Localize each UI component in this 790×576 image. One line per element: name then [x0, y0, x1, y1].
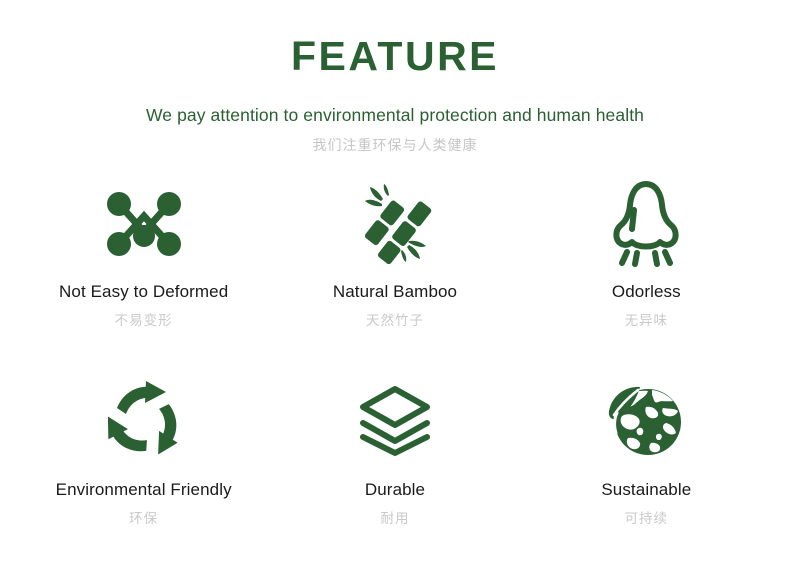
feature-item-durable: Durable 耐用	[269, 372, 520, 568]
globe-leaf-icon	[606, 372, 686, 470]
feature-label-en: Odorless	[612, 282, 681, 302]
subtitle-chinese: 我们注重环保与人类健康	[0, 137, 790, 154]
feature-section: FEATURE We pay attention to environmenta…	[0, 0, 790, 576]
layers-icon	[358, 372, 432, 470]
feature-label-cn: 环保	[129, 511, 158, 527]
feature-item-natural-bamboo: Natural Bamboo 天然竹子	[269, 176, 520, 372]
section-header: FEATURE We pay attention to environmenta…	[0, 0, 790, 154]
feature-label-en: Not Easy to Deformed	[59, 282, 228, 302]
recycle-icon	[103, 372, 185, 470]
feature-label-en: Durable	[365, 480, 425, 500]
bamboo-icon	[356, 176, 434, 272]
molecule-lattice-icon	[105, 176, 183, 272]
feature-item-not-easy-to-deformed: Not Easy to Deformed 不易变形	[18, 176, 269, 372]
feature-label-en: Environmental Friendly	[56, 480, 232, 500]
feature-label-cn: 不易变形	[115, 313, 173, 329]
feature-grid: Not Easy to Deformed 不易变形	[0, 176, 790, 568]
feature-label-cn: 天然竹子	[366, 313, 424, 329]
nose-icon	[609, 176, 683, 272]
feature-item-odorless: Odorless 无异味	[521, 176, 772, 372]
page-title: FEATURE	[0, 34, 790, 79]
subtitle-english: We pay attention to environmental protec…	[0, 105, 790, 126]
feature-item-sustainable: Sustainable 可持续	[521, 372, 772, 568]
feature-label-en: Sustainable	[601, 480, 691, 500]
feature-label-cn: 耐用	[380, 511, 409, 527]
feature-label-en: Natural Bamboo	[333, 282, 457, 302]
feature-label-cn: 可持续	[625, 511, 669, 527]
feature-label-cn: 无异味	[625, 313, 669, 329]
feature-item-environmental-friendly: Environmental Friendly 环保	[18, 372, 269, 568]
